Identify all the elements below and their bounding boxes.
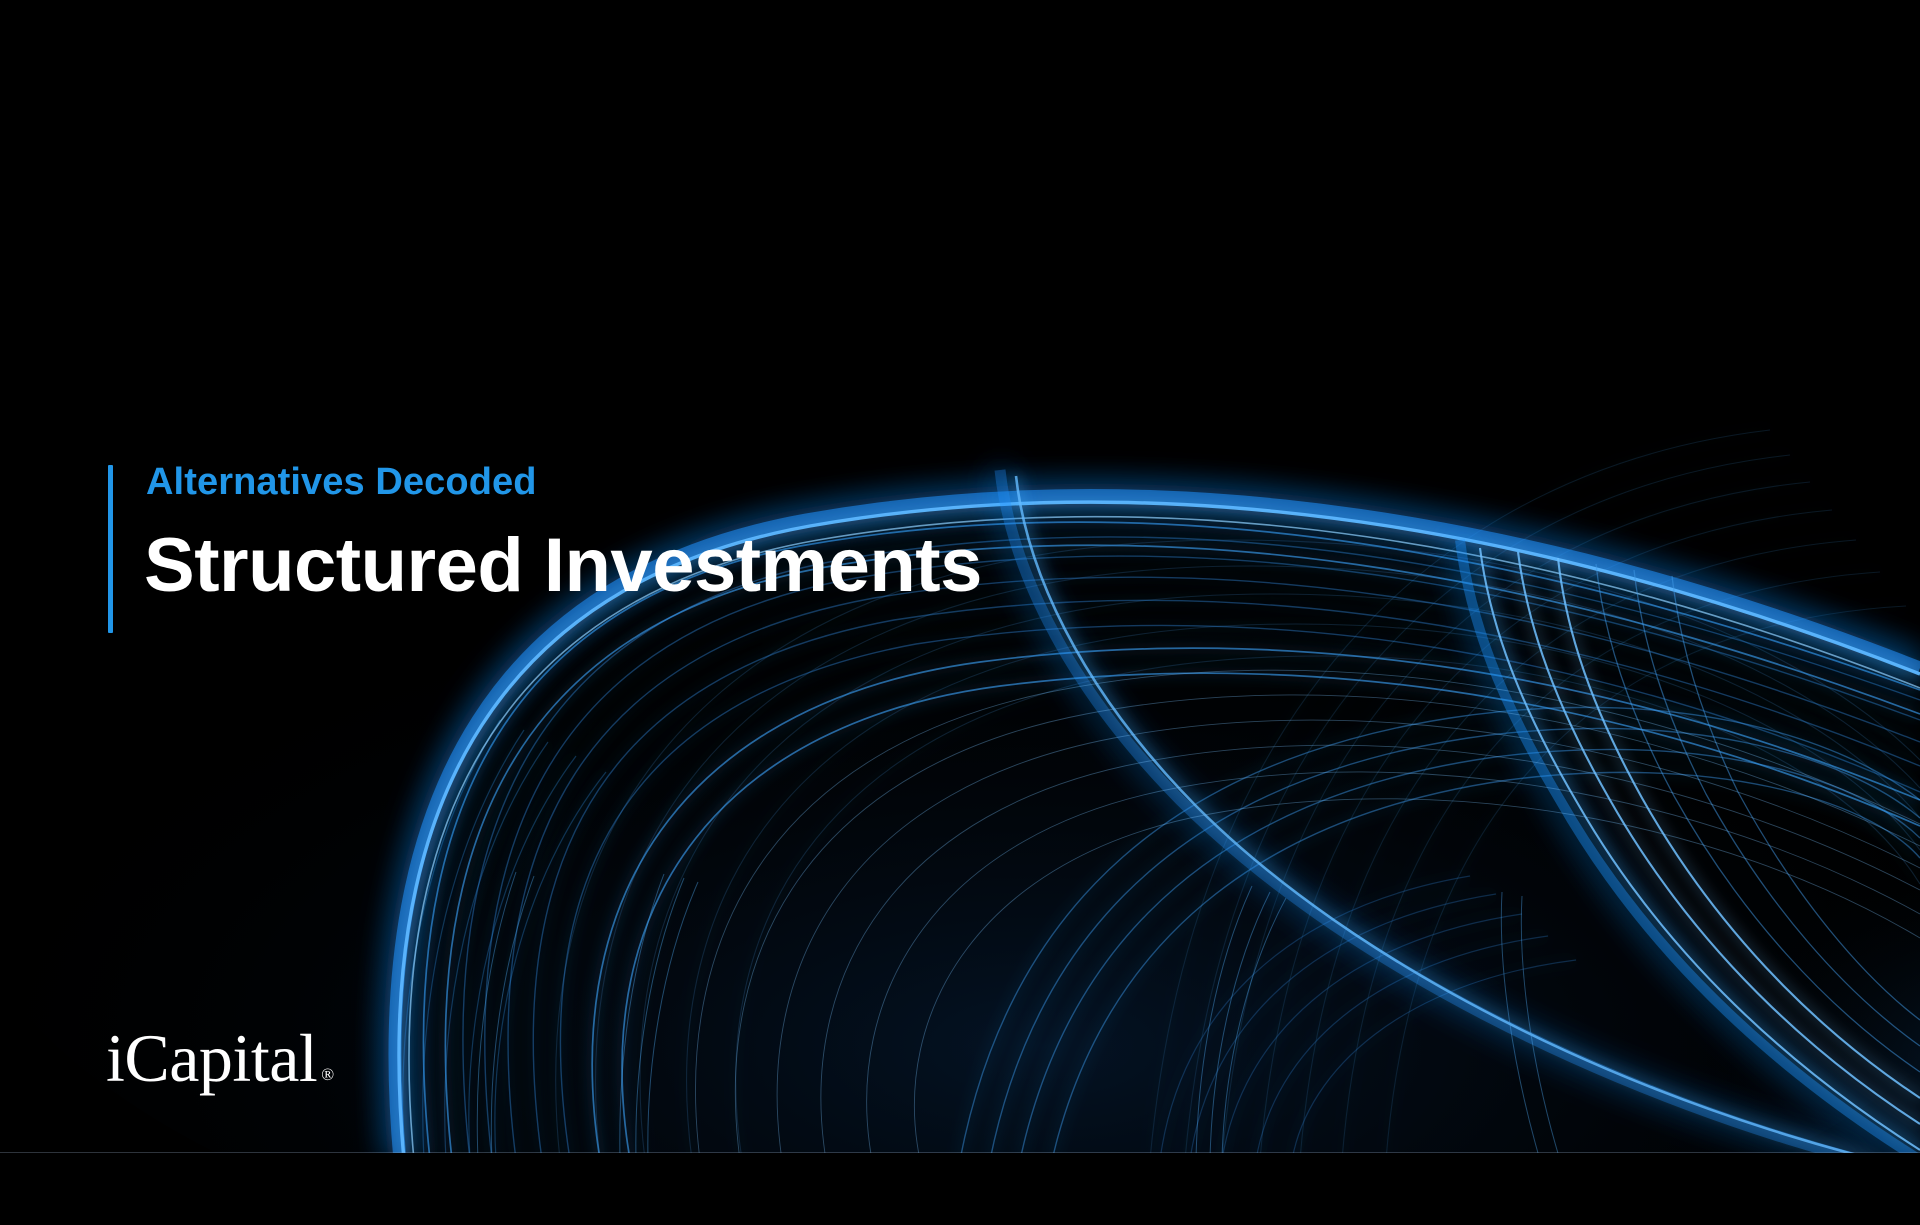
icapital-logo: iCapital ® bbox=[106, 1024, 334, 1092]
title-slide: Alternatives Decoded Structured Investme… bbox=[0, 0, 1920, 1225]
registered-trademark-icon: ® bbox=[321, 1066, 334, 1083]
footer-band bbox=[0, 1153, 1920, 1225]
eyebrow-label: Alternatives Decoded bbox=[146, 462, 537, 504]
accent-bar bbox=[108, 465, 113, 633]
logo-wordmark: iCapital bbox=[106, 1024, 317, 1092]
page-title: Structured Investments bbox=[144, 522, 982, 609]
